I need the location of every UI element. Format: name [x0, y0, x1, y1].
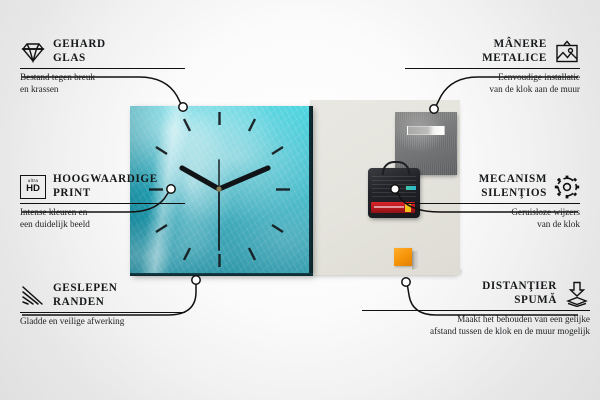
feature-desc-line2: een duidelijk beeld [20, 219, 90, 229]
anchor-dot-mechanism [391, 185, 399, 193]
feature-title-line2: SILENŢIOS [481, 187, 547, 199]
feature-rule [405, 68, 580, 69]
feature-title-line2: RANDEN [53, 296, 104, 308]
feature-desc-line1: Intense kleuren en [20, 207, 87, 217]
feature-desc-line1: Gladde en veilige afwerking [20, 316, 124, 326]
feature-gehard-glas[interactable]: GEHARD GLAS Bestand tegen breuk en krass… [20, 38, 190, 95]
press-layers-icon [564, 282, 590, 306]
feature-title-line1: DISTANŢIER [482, 280, 557, 292]
anchor-dot-handles [430, 105, 438, 113]
feature-title-line1: HOOGWAARDIGE [53, 173, 158, 185]
feature-desc-line2: van de klok [537, 219, 580, 229]
feature-rule [20, 312, 185, 313]
ultra-hd-large-label: HD [26, 184, 40, 194]
anchor-dot-glass [179, 103, 187, 111]
feature-title-line1: MECANISM [479, 173, 547, 185]
feature-rule [362, 310, 590, 311]
diamond-icon [20, 40, 46, 64]
feature-title-line1: GEHARD [53, 38, 106, 50]
feature-title-line2: PRINT [53, 187, 91, 199]
feature-title-line1: MÂNERE [494, 38, 547, 50]
feature-title-line2: SPUMĂ [514, 294, 557, 306]
feature-geslepen-randen[interactable]: GESLEPEN RANDEN Gladde en veilige afwerk… [20, 282, 195, 328]
feature-rule [20, 203, 185, 204]
feature-desc-line1: Maakt het behouden van een gelijke [457, 314, 590, 324]
feature-title-line2: METALICE [482, 52, 547, 64]
feature-distantier-spuma[interactable]: DISTANŢIER SPUMĂ Maakt het behouden van … [360, 280, 590, 337]
infographic-canvas: GEHARD GLAS Bestand tegen breuk en krass… [0, 0, 600, 400]
gear-icon [554, 175, 580, 199]
ultra-hd-icon: ultra HD [20, 175, 46, 199]
feature-desc-line1: Geruisloze wijzers [511, 207, 580, 217]
feature-desc-line1: Bestand tegen breuk [20, 72, 95, 82]
picture-frame-hook-icon [554, 40, 580, 64]
feature-desc-line2: en krassen [20, 84, 59, 94]
feature-hoogwaardige-print[interactable]: ultra HD HOOGWAARDIGE PRINT Intense kleu… [20, 173, 192, 230]
feature-rule [20, 68, 185, 69]
feature-title-line2: GLAS [53, 52, 86, 64]
feature-desc-line2: van de klok aan de muur [489, 84, 580, 94]
beveled-edges-icon [20, 284, 46, 308]
feature-rule [405, 203, 580, 204]
feature-manere-metalice[interactable]: MÂNERE METALICE Eenvoudige installatie v… [400, 38, 580, 95]
feature-mecanism-silentios[interactable]: MECANISM SILENŢIOS [400, 173, 580, 230]
feature-title-line1: GESLEPEN [53, 282, 118, 294]
feature-desc-line2: afstand tussen de klok en de muur mogeli… [430, 326, 590, 336]
feature-desc-line1: Eenvoudige installatie [498, 72, 580, 82]
